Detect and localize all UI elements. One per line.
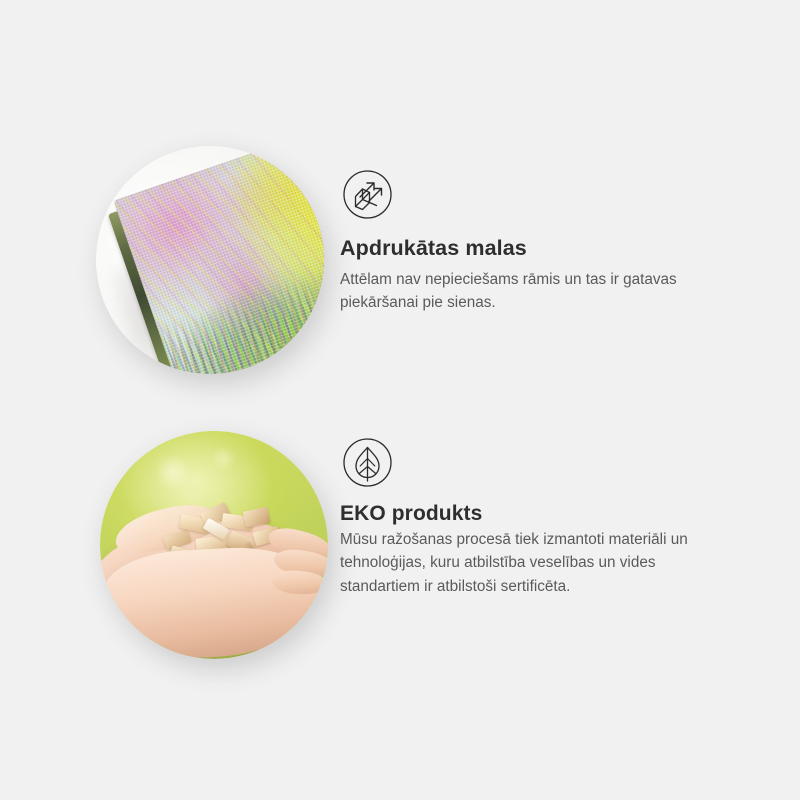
feature-eco-product: EKO produkts Mūsu ražošanas procesā tiek… bbox=[0, 425, 800, 675]
feature-eco-product-content: EKO produkts Mūsu ražošanas procesā tiek… bbox=[340, 425, 800, 598]
feature-eco-product-media bbox=[0, 425, 340, 675]
feature-eco-product-title: EKO produkts bbox=[340, 501, 748, 526]
feature-printed-edges-description: Attēlam nav nepieciešams rāmis un tas ir… bbox=[340, 268, 692, 315]
feature-printed-edges-title: Apdrukātas malas bbox=[340, 236, 748, 262]
leaf-icon bbox=[340, 435, 395, 490]
feature-eco-product-description: Mūsu ražošanas procesā tiek izmantoti ma… bbox=[340, 528, 692, 598]
product-features-page: Apdrukātas malas Attēlam nav nepieciešam… bbox=[0, 0, 800, 800]
wrapped-canvas-edge-icon bbox=[340, 167, 395, 222]
canvas-print-corner-photo bbox=[96, 146, 324, 374]
hands-holding-wood-chips-photo bbox=[100, 431, 328, 659]
feature-printed-edges-content: Apdrukātas malas Attēlam nav nepieciešam… bbox=[340, 140, 800, 314]
feature-printed-edges-media bbox=[0, 140, 340, 390]
feature-printed-edges: Apdrukātas malas Attēlam nav nepieciešam… bbox=[0, 140, 800, 390]
